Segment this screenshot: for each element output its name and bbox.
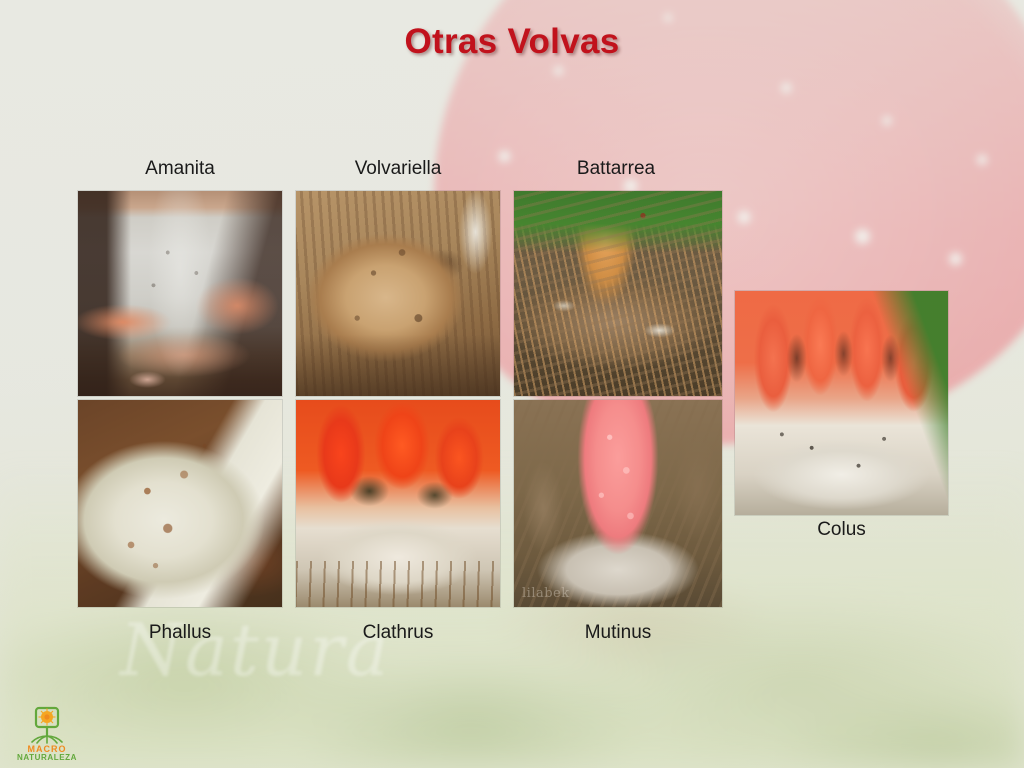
photo-phallus[interactable] bbox=[78, 400, 282, 607]
caption-clathrus: Clathrus bbox=[296, 622, 500, 644]
photo-battarrea[interactable] bbox=[514, 191, 722, 396]
slide-canvas: Natura Otras Volvas Amanita Volvariella … bbox=[0, 0, 1024, 768]
caption-volvariella: Volvariella bbox=[296, 158, 500, 180]
photo-clathrus-image bbox=[296, 400, 500, 607]
macro-naturaleza-logo: MACRO NATURALEZA bbox=[10, 706, 84, 762]
caption-mutinus: Mutinus bbox=[514, 622, 722, 644]
plant-tree-icon bbox=[26, 706, 68, 744]
caption-phallus: Phallus bbox=[78, 622, 282, 644]
photo-colus[interactable] bbox=[735, 291, 948, 515]
caption-battarrea: Battarrea bbox=[514, 158, 718, 180]
photo-amanita-image bbox=[78, 191, 282, 396]
photo-colus-image bbox=[735, 291, 948, 515]
photo-phallus-image bbox=[78, 400, 282, 607]
photo-mutinus[interactable]: lilabek bbox=[514, 400, 722, 607]
photo-battarrea-image bbox=[514, 191, 722, 396]
photo-volvariella-image bbox=[296, 191, 500, 396]
photo-clathrus[interactable] bbox=[296, 400, 500, 607]
slide-title: Otras Volvas bbox=[0, 22, 1024, 62]
photo-mutinus-image bbox=[514, 400, 722, 607]
caption-colus: Colus bbox=[735, 519, 948, 541]
photo-mutinus-watermark: lilabek bbox=[522, 586, 570, 601]
logo-text-naturaleza: NATURALEZA bbox=[10, 754, 84, 762]
photo-volvariella[interactable] bbox=[296, 191, 500, 396]
photo-amanita[interactable] bbox=[78, 191, 282, 396]
caption-amanita: Amanita bbox=[78, 158, 282, 180]
background-script-text: Natura bbox=[120, 608, 391, 692]
